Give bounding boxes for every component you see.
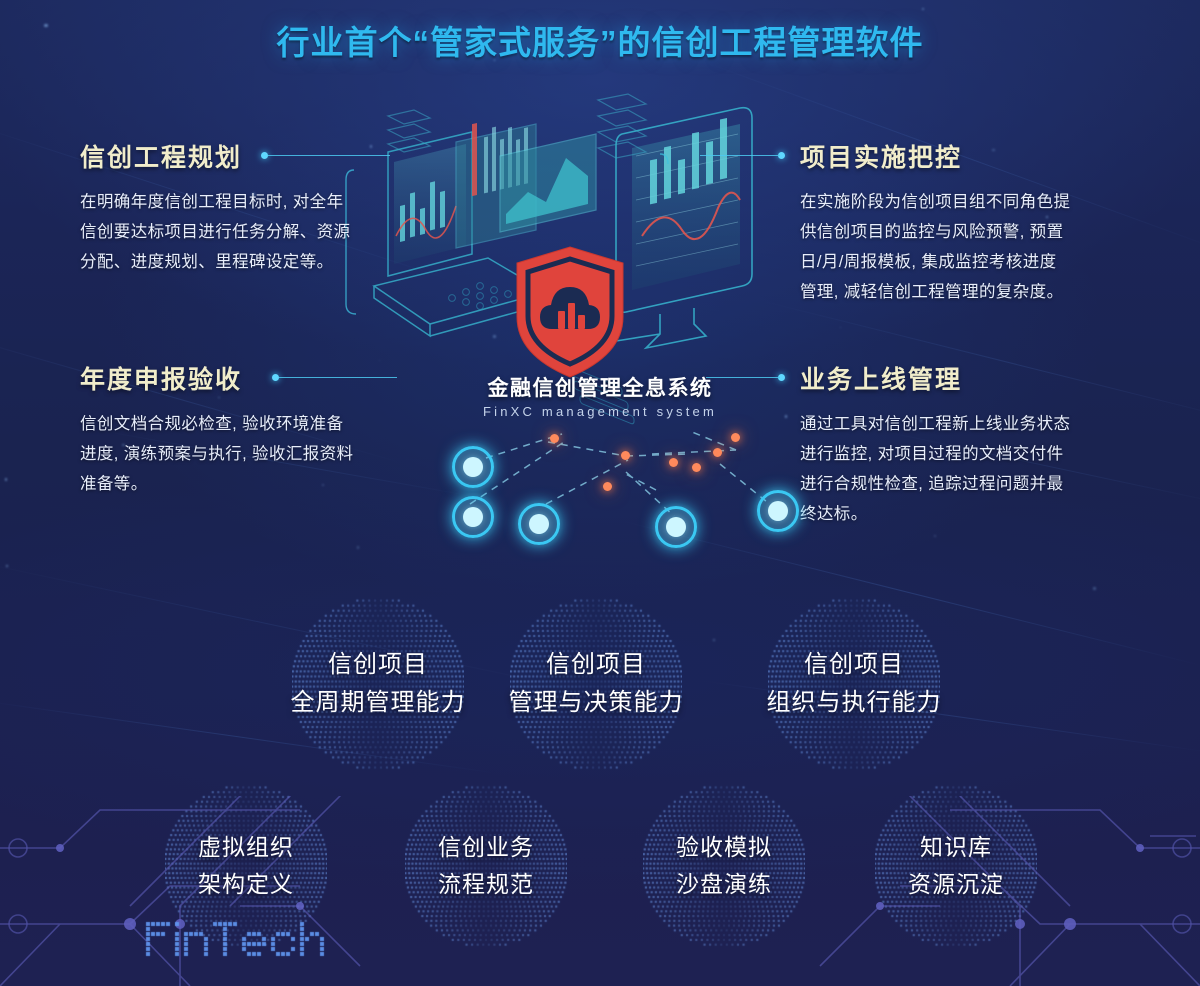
- body-line: 通过工具对信创工程新上线业务状态: [800, 409, 1150, 439]
- network-junction-dot: [603, 482, 612, 491]
- body-line: 进行合规性检查, 追踪过程问题并最: [800, 469, 1150, 499]
- capability-sphere-organization: 信创项目 组织与执行能力: [768, 598, 940, 770]
- capability-label: 虚拟组织 架构定义: [198, 829, 294, 903]
- network-junction-dot: [692, 463, 701, 472]
- connector-line-launch: [706, 377, 780, 378]
- block-annual-acceptance-heading: 年度申报验收: [80, 360, 430, 396]
- network-node: [655, 506, 697, 548]
- body-line: 分配、进度规划、里程碑设定等。: [80, 247, 430, 277]
- body-line: 在实施阶段为信创项目组不同角色提: [800, 187, 1150, 217]
- capability-sphere-decision: 信创项目 管理与决策能力: [510, 598, 682, 770]
- body-line: 准备等。: [80, 469, 430, 499]
- body-line: 日/月/周报模板, 集成监控考核进度: [800, 247, 1150, 277]
- shield-cloud-chart-icon: [508, 243, 632, 381]
- network-junction-dot: [731, 433, 740, 442]
- block-planning-heading: 信创工程规划: [80, 138, 430, 174]
- network-node: [452, 496, 494, 538]
- capability-label: 知识库 资源沉淀: [908, 829, 1004, 903]
- network-node: [518, 503, 560, 545]
- body-line: 进行监控, 对项目过程的文档交付件: [800, 439, 1150, 469]
- network-junction-dot: [621, 451, 630, 460]
- capability-label: 信创业务 流程规范: [438, 829, 534, 903]
- block-planning-body: 在明确年度信创工程目标时, 对全年 信创要达标项目进行任务分解、资源 分配、进度…: [80, 187, 430, 277]
- block-business-launch: 业务上线管理 通过工具对信创工程新上线业务状态 进行监控, 对项目过程的文档交付…: [800, 360, 1150, 529]
- body-line: 在明确年度信创工程目标时, 对全年: [80, 187, 430, 217]
- block-annual-acceptance-body: 信创文档合规必检查, 验收环境准备 进度, 演练预案与执行, 验收汇报资料 准备…: [80, 409, 430, 499]
- infographic-canvas: 行业首个“管家式服务”的信创工程管理软件: [0, 0, 1200, 986]
- body-line: 供信创项目的监控与风险预警, 预置: [800, 217, 1150, 247]
- fintech-watermark: [140, 916, 370, 968]
- block-planning: 信创工程规划 在明确年度信创工程目标时, 对全年 信创要达标项目进行任务分解、资…: [80, 138, 430, 277]
- page-title: 行业首个“管家式服务”的信创工程管理软件: [0, 16, 1200, 64]
- network-junction-dot: [669, 458, 678, 467]
- body-line: 进度, 演练预案与执行, 验收汇报资料: [80, 439, 430, 469]
- block-business-launch-body: 通过工具对信创工程新上线业务状态 进行监控, 对项目过程的文档交付件 进行合规性…: [800, 409, 1150, 529]
- block-implementation-body: 在实施阶段为信创项目组不同角色提 供信创项目的监控与风险预警, 预置 日/月/周…: [800, 187, 1150, 307]
- network-junction-dot: [713, 448, 722, 457]
- capability-label: 信创项目 组织与执行能力: [767, 646, 942, 722]
- network-node: [452, 446, 494, 488]
- block-implementation-heading: 项目实施把控: [800, 138, 1150, 174]
- capability-label: 信创项目 管理与决策能力: [509, 646, 684, 722]
- capability-label: 信创项目 全周期管理能力: [291, 646, 466, 722]
- block-business-launch-heading: 业务上线管理: [800, 360, 1150, 396]
- connector-line-implementation: [700, 155, 780, 156]
- body-line: 终达标。: [800, 499, 1150, 529]
- network-node: [757, 490, 799, 532]
- capability-label: 验收模拟 沙盘演练: [676, 829, 772, 903]
- block-annual-acceptance: 年度申报验收 信创文档合规必检查, 验收环境准备 进度, 演练预案与执行, 验收…: [80, 360, 430, 499]
- network-junction-dot: [550, 434, 559, 443]
- body-line: 信创文档合规必检查, 验收环境准备: [80, 409, 430, 439]
- body-line: 信创要达标项目进行任务分解、资源: [80, 217, 430, 247]
- capability-sphere-lifecycle: 信创项目 全周期管理能力: [292, 598, 464, 770]
- body-line: 管理, 减轻信创工程管理的复杂度。: [800, 277, 1150, 307]
- block-implementation: 项目实施把控 在实施阶段为信创项目组不同角色提 供信创项目的监控与风险预警, 预…: [800, 138, 1150, 307]
